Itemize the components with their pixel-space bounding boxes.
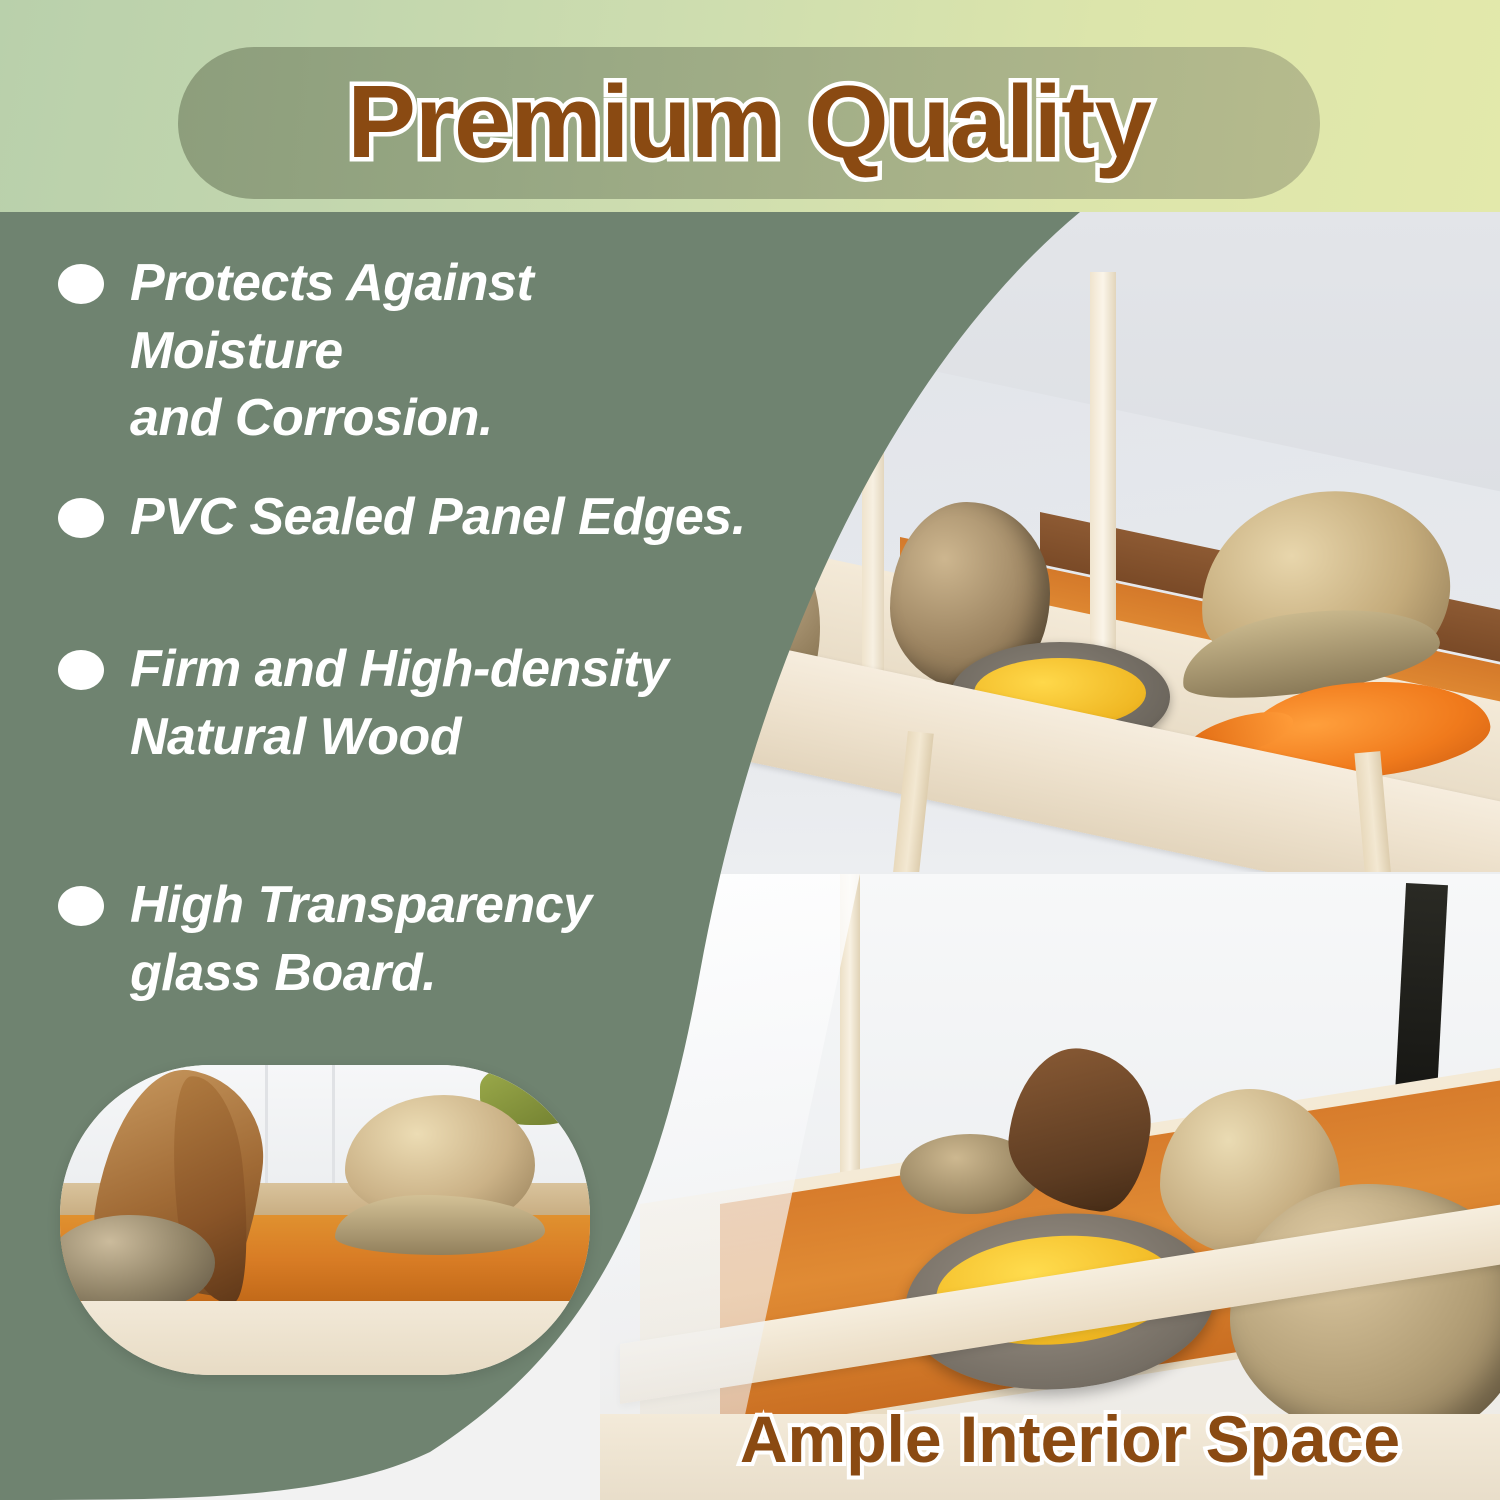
inset-wood-base-rail bbox=[60, 1301, 590, 1375]
bullet-dot-icon bbox=[58, 498, 104, 538]
feature-label: High Transparency glass Board. bbox=[130, 872, 592, 1007]
feature-list: Protects Against Moisture and Corrosion.… bbox=[0, 212, 760, 1012]
inset-rock-decor bbox=[60, 1215, 215, 1310]
feature-item-natural-wood: Firm and High-density Natural Wood bbox=[58, 636, 718, 771]
product-infographic: Premium Quality bbox=[0, 0, 1500, 1500]
feature-label: Protects Against Moisture and Corrosion. bbox=[130, 250, 748, 453]
page-title: Premium Quality bbox=[178, 52, 1320, 192]
bullet-dot-icon bbox=[58, 264, 104, 304]
fern-plant-decor bbox=[990, 222, 1320, 552]
feature-item-moisture: Protects Against Moisture and Corrosion. bbox=[58, 250, 748, 453]
feature-item-pvc-edges: PVC Sealed Panel Edges. bbox=[58, 484, 758, 552]
feature-item-glass-board: High Transparency glass Board. bbox=[58, 872, 678, 1007]
fern-plant-decor-interior bbox=[1390, 874, 1500, 1104]
wood-frame-post-left bbox=[862, 320, 884, 675]
inset-glass-seam-2 bbox=[332, 1065, 335, 1195]
bullet-dot-icon bbox=[58, 650, 104, 690]
feature-label: Firm and High-density Natural Wood bbox=[130, 636, 668, 771]
inset-glass-seam-1 bbox=[265, 1065, 268, 1195]
bullet-dot-icon bbox=[58, 886, 104, 926]
terrarium-closeup-inset-photo bbox=[60, 1065, 590, 1375]
feature-label: PVC Sealed Panel Edges. bbox=[130, 484, 746, 552]
bottom-caption: Ample Interior Space bbox=[640, 1398, 1500, 1480]
